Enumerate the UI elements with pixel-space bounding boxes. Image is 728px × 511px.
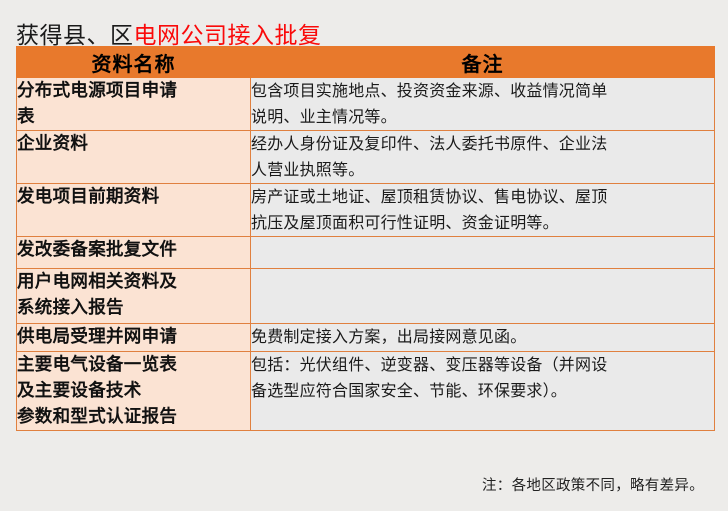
cell-material-name: 发改委备案批复文件 — [17, 237, 251, 269]
cell-text-line: 抗压及屋顶面积可行性证明、资金证明等。 — [251, 210, 714, 236]
cell-material-name: 用户电网相关资料及系统接入报告 — [17, 269, 251, 324]
requirements-table: 资料名称 备注 分布式电源项目申请表包含项目实施地点、投资资金来源、收益情况简单… — [16, 46, 715, 431]
cell-remark: 房产证或土地证、屋顶租赁协议、售电协议、屋顶抗压及屋顶面积可行性证明、资金证明等… — [251, 184, 715, 237]
cell-material-name: 主要电气设备一览表及主要设备技术参数和型式认证报告 — [17, 352, 251, 431]
cell-material-name: 供电局受理并网申请 — [17, 324, 251, 352]
table-body: 分布式电源项目申请表包含项目实施地点、投资资金来源、收益情况简单说明、业主情况等… — [17, 78, 715, 431]
cell-remark: 经办人身份证及复印件、法人委托书原件、企业法人营业执照等。 — [251, 131, 715, 184]
table-row: 主要电气设备一览表及主要设备技术参数和型式认证报告包括：光伏组件、逆变器、变压器… — [17, 352, 715, 431]
cell-text-line: 表 — [17, 104, 250, 130]
cell-text-line: 备选型应符合国家安全、节能、环保要求）。 — [251, 378, 714, 404]
cell-text-line: 企业资料 — [17, 131, 250, 157]
cell-text-line: 包含项目实施地点、投资资金来源、收益情况简单 — [251, 78, 714, 104]
cell-text-line: 包括：光伏组件、逆变器、变压器等设备（并网设 — [251, 352, 714, 378]
cell-text-line: 供电局受理并网申请 — [17, 324, 250, 350]
column-header-name: 资料名称 — [17, 47, 251, 78]
cell-text-line: 房产证或土地证、屋顶租赁协议、售电协议、屋顶 — [251, 184, 714, 210]
cell-remark: 免费制定接入方案，出局接网意见函。 — [251, 324, 715, 352]
table-header-row: 资料名称 备注 — [17, 47, 715, 78]
table-row: 发电项目前期资料房产证或土地证、屋顶租赁协议、售电协议、屋顶抗压及屋顶面积可行性… — [17, 184, 715, 237]
cell-material-name: 分布式电源项目申请表 — [17, 78, 251, 131]
cell-text-line: 参数和型式认证报告 — [17, 404, 250, 430]
cell-remark: 包含项目实施地点、投资资金来源、收益情况简单说明、业主情况等。 — [251, 78, 715, 131]
table-row: 发改委备案批复文件 — [17, 237, 715, 269]
cell-text-line: 人营业执照等。 — [251, 157, 714, 183]
cell-material-name: 企业资料 — [17, 131, 251, 184]
cell-text-line: 说明、业主情况等。 — [251, 104, 714, 130]
footnote: 注：各地区政策不同，略有差异。 — [482, 474, 704, 495]
cell-text-line: 用户电网相关资料及 — [17, 269, 250, 295]
cell-text-line: 经办人身份证及复印件、法人委托书原件、企业法 — [251, 131, 714, 157]
cell-text-line: 主要电气设备一览表 — [17, 352, 250, 378]
table-row: 分布式电源项目申请表包含项目实施地点、投资资金来源、收益情况简单说明、业主情况等… — [17, 78, 715, 131]
table-row: 供电局受理并网申请免费制定接入方案，出局接网意见函。 — [17, 324, 715, 352]
cell-material-name: 发电项目前期资料 — [17, 184, 251, 237]
cell-text-line: 发改委备案批复文件 — [17, 237, 250, 263]
cell-text-line: 系统接入报告 — [17, 295, 250, 321]
table-row: 企业资料经办人身份证及复印件、法人委托书原件、企业法人营业执照等。 — [17, 131, 715, 184]
cell-text-line: 分布式电源项目申请 — [17, 78, 250, 104]
column-header-remark: 备注 — [251, 47, 715, 78]
cell-text-line: 及主要设备技术 — [17, 378, 250, 404]
cell-remark — [251, 237, 715, 269]
table-row: 用户电网相关资料及系统接入报告 — [17, 269, 715, 324]
cell-remark — [251, 269, 715, 324]
cell-text-line: 免费制定接入方案，出局接网意见函。 — [251, 324, 714, 350]
cell-text-line: 发电项目前期资料 — [17, 184, 250, 210]
cell-remark: 包括：光伏组件、逆变器、变压器等设备（并网设备选型应符合国家安全、节能、环保要求… — [251, 352, 715, 431]
